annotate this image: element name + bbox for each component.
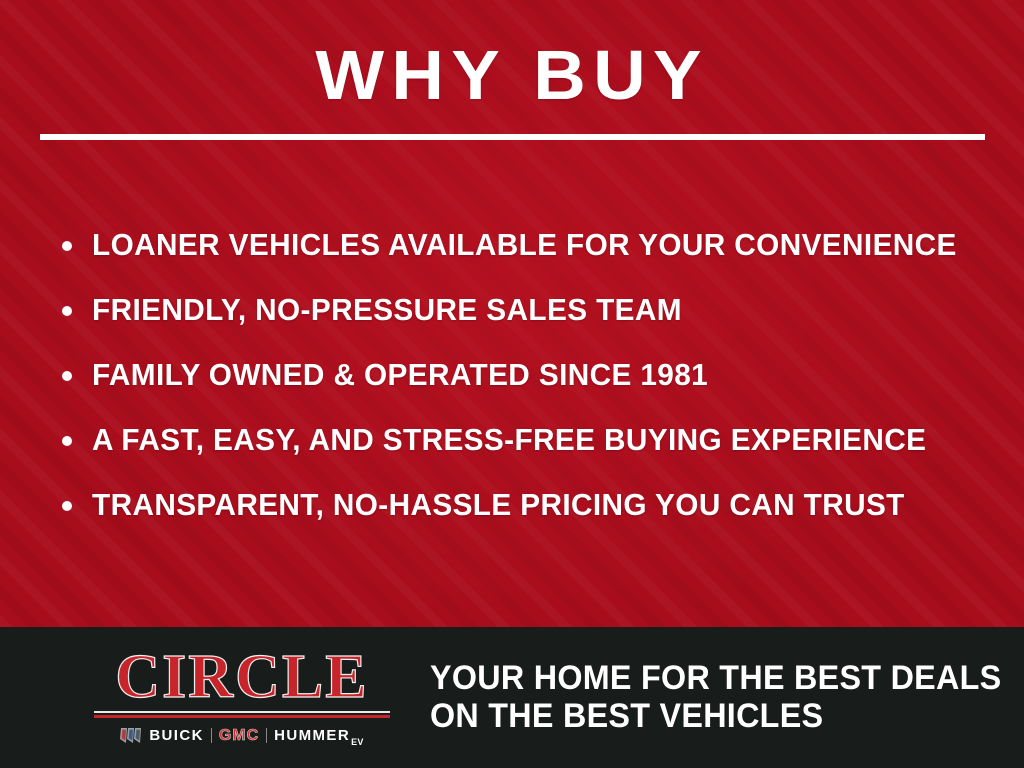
page-title: WHY BUY bbox=[315, 38, 708, 112]
benefits-list: LOANER VEHICLES AVAILABLE FOR YOUR CONVE… bbox=[62, 212, 992, 537]
bullet-dot-icon bbox=[62, 306, 72, 316]
bullet-dot-icon bbox=[62, 501, 72, 511]
bullet-dot-icon bbox=[62, 436, 72, 446]
bullet-dot-icon bbox=[62, 241, 72, 251]
brand-separator bbox=[211, 728, 212, 743]
footer-tagline-line1: YOUR HOME FOR THE BEST DEALS bbox=[430, 659, 1001, 697]
logo-wordmark: CIRCLE bbox=[92, 647, 392, 707]
brand-row: BUICK GMC HUMMER EV bbox=[92, 727, 392, 744]
slide-root: WHY BUY LOANER VEHICLES AVAILABLE FOR YO… bbox=[0, 0, 1024, 768]
list-item: FAMILY OWNED & OPERATED SINCE 1981 bbox=[62, 342, 992, 407]
brand-separator bbox=[266, 728, 267, 743]
list-item: FRIENDLY, NO-PRESSURE SALES TEAM bbox=[62, 277, 992, 342]
bullet-dot-icon bbox=[62, 371, 72, 381]
brand-label-hummer: HUMMER bbox=[274, 727, 350, 744]
brand-label-hummer-ev: EV bbox=[351, 737, 364, 747]
brand-group-hummer: HUMMER EV bbox=[274, 727, 364, 744]
list-item: TRANSPARENT, NO-HASSLE PRICING YOU CAN T… bbox=[62, 472, 992, 537]
brand-label-gmc: GMC bbox=[219, 727, 259, 744]
footer-bar: CIRCLE BUICK bbox=[0, 627, 1024, 768]
list-item-label: TRANSPARENT, NO-HASSLE PRICING YOU CAN T… bbox=[92, 488, 905, 522]
buick-tri-shield-icon bbox=[120, 727, 142, 744]
list-item-label: A FAST, EASY, AND STRESS-FREE BUYING EXP… bbox=[92, 423, 926, 457]
dealership-logo: CIRCLE BUICK bbox=[92, 647, 392, 744]
brand-label-buick: BUICK bbox=[149, 727, 204, 744]
list-item-label: FAMILY OWNED & OPERATED SINCE 1981 bbox=[92, 358, 708, 392]
list-item-label: LOANER VEHICLES AVAILABLE FOR YOUR CONVE… bbox=[92, 228, 957, 262]
page-title-block: WHY BUY bbox=[0, 38, 1024, 112]
logo-rule-red bbox=[94, 715, 390, 718]
list-item-label: FRIENDLY, NO-PRESSURE SALES TEAM bbox=[92, 293, 682, 327]
list-item: A FAST, EASY, AND STRESS-FREE BUYING EXP… bbox=[62, 407, 992, 472]
footer-tagline-line2: ON THE BEST VEHICLES bbox=[430, 697, 1001, 735]
logo-divider-rules bbox=[94, 711, 390, 718]
title-underline-rule bbox=[40, 134, 985, 140]
list-item: LOANER VEHICLES AVAILABLE FOR YOUR CONVE… bbox=[62, 212, 992, 277]
footer-tagline: YOUR HOME FOR THE BEST DEALS ON THE BEST… bbox=[430, 659, 1024, 735]
